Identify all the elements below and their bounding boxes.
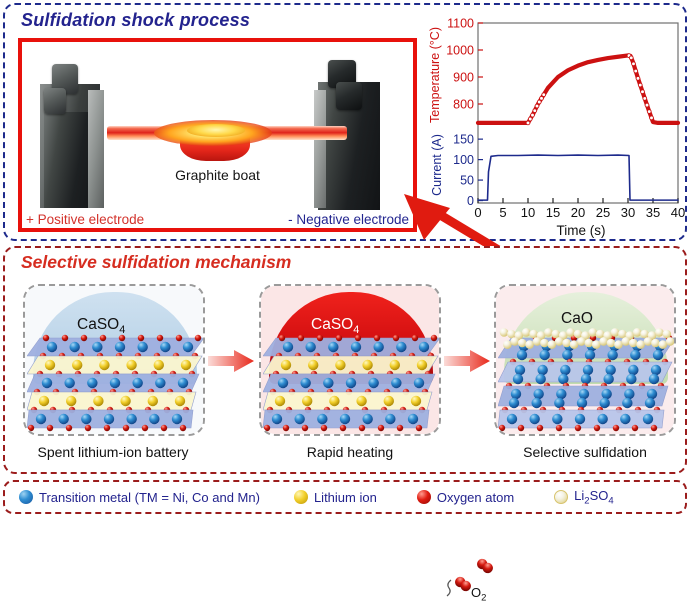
chem-formula-stage-1: CaSO4 [311,316,359,336]
o2-label: O2 [471,585,486,604]
graphite-boat-label: Graphite boat [22,167,413,183]
stage-transition-arrow-1 [208,348,254,374]
chem-formula-stage-2: CaO [561,310,593,328]
legend-label-oxygen-atom: Oxygen atom [437,490,514,505]
legend-label-li2so4: Li2SO4 [574,488,614,507]
legend-item-li2so4: Li2SO4 [554,488,614,507]
stage-spent-battery [23,284,205,436]
svg-text:50: 50 [460,174,474,188]
stage-label-1: Rapid heating [240,444,460,460]
transition-metal-sphere-icon [19,490,33,504]
mechanism-title: Selective sulfidation mechanism [21,252,291,273]
layered-lattice [27,334,205,432]
svg-text:1100: 1100 [447,17,474,31]
sample-powder [187,124,245,137]
legend-item-oxygen-atom: Oxygen atom [417,490,514,505]
chem-formula-stage-0: CaSO4 [77,316,125,336]
stage-transition-arrow-2 [444,348,490,374]
svg-text:100: 100 [453,153,474,167]
lithium-ion-sphere-icon [294,490,308,504]
svg-text:900: 900 [453,71,474,85]
temperature-axis-label: Temperature (°C) [428,27,442,123]
svg-text:150: 150 [453,133,474,147]
legend-item-transition-metal: Transition metal (TM = Ni, Co and Mn) [19,490,260,505]
svg-text:40: 40 [671,205,685,220]
negative-electrode-label: - Negative electrode [288,212,409,227]
positive-electrode-label: + Positive electrode [26,212,144,227]
svg-text:800: 800 [453,98,474,112]
right-clamp-plate [314,90,326,208]
left-bolt-lower [44,88,66,114]
stage-label-0: Spent lithium-ion battery [3,444,223,460]
shock-apparatus-photo: Graphite boat + Positive electrode - Neg… [18,38,417,232]
left-clamp-plate [88,90,104,208]
shock-process-title: Sulfidation shock process [21,10,250,31]
legend-label-lithium-ion: Lithium ion [314,490,377,505]
svg-text:30: 30 [621,205,635,220]
svg-text:35: 35 [646,205,660,220]
legend-label-transition-metal: Transition metal (TM = Ni, Co and Mn) [39,490,260,505]
layered-lattice [263,334,441,432]
stage-selective-sulfidation [494,284,676,436]
svg-text:1000: 1000 [446,44,474,58]
stage-label-2: Selective sulfidation [475,444,690,460]
legend-item-lithium-ion: Lithium ion [294,490,377,505]
current-axis-label: Current (A) [430,134,444,196]
selective-sulfidation-panel: Selective sulfidation mechanism CaSO4 Ca… [3,246,687,474]
right-bolt-lower [336,82,362,110]
oxygen-atom-sphere-icon [417,490,431,504]
stage-rapid-heating [259,284,441,436]
li2so4-particle-band [498,324,676,354]
figure-legend: Transition metal (TM = Ni, Co and Mn) Li… [3,480,687,514]
li2so4-sphere-icon [554,490,568,504]
